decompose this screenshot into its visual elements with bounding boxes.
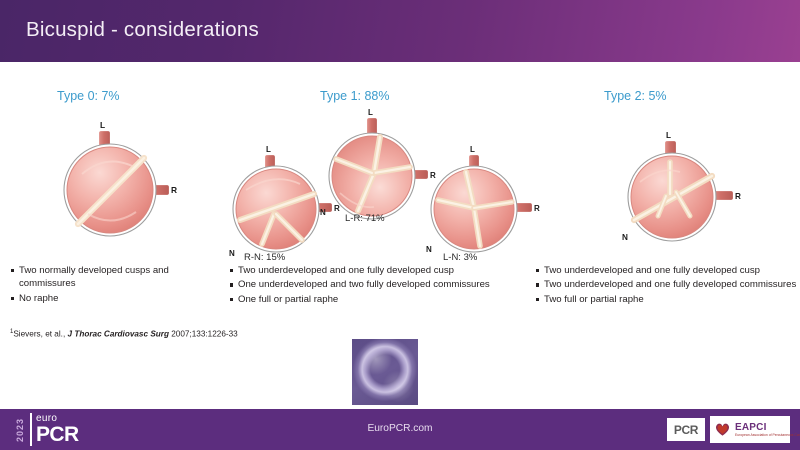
citation-details: 2007;133:1226-33 [169,330,238,339]
type-1-label: Type 1: 88% [320,89,390,103]
pcr-logo-box: PCR [667,418,705,441]
slide: Bicuspid - considerations Type 0: 7% Typ… [0,0,800,450]
citation-authors: Sievers, et al., [13,330,67,339]
list-item: Two underdeveloped and one fully develop… [229,264,525,277]
bullet-list-type-1: Two underdeveloped and one fully develop… [229,264,525,307]
valve-diagram-l-n: L R N [424,152,540,262]
list-item: Two normally developed cusps and commiss… [10,264,215,291]
svg-text:L: L [470,145,475,154]
citation-reference: 1Sievers, et al., J Thorac Cardiovasc Su… [10,329,238,339]
svg-text:R: R [735,192,741,201]
list-item: Two underdeveloped and one fully develop… [535,264,797,277]
svg-text:L: L [666,131,671,140]
svg-text:N: N [229,249,235,258]
type-0-label: Type 0: 7% [57,89,120,103]
slide-header-bar: Bicuspid - considerations [0,0,800,62]
heart-icon [714,421,731,438]
svg-text:N: N [622,233,628,242]
valve-caption-l-r: L-R: 71% [345,213,385,224]
eapci-subtitle-text: European Association of Percutaneous Car… [735,433,800,438]
svg-text:L: L [368,108,373,117]
svg-text:R: R [534,204,540,213]
list-item: One full or partial raphe [229,293,525,306]
list-item: Two full or partial raphe [535,293,797,306]
svg-text:N: N [426,245,432,254]
valve-caption-r-n: R-N: 15% [244,252,285,263]
logo-year-text: 2023 [15,413,26,446]
list-item: One underdeveloped and two fully develop… [229,278,525,291]
bullet-list-type-0: Two normally developed cusps and commiss… [10,264,215,306]
list-item: Two underdeveloped and one fully develop… [535,278,797,291]
europcr-logo: 2023 euro PCR [15,413,79,446]
svg-text:L: L [266,145,271,154]
eapci-logo-box: EAPCI European Association of Percutaneo… [710,416,790,443]
pcr-logo-text: PCR [674,423,698,437]
svg-text:N: N [320,208,326,217]
citation-journal: J Thorac Cardiovasc Surg [68,330,169,339]
valve-diagram-type-0: L R [58,128,178,246]
logo-pcr-text: PCR [36,424,79,445]
page-title: Bicuspid - considerations [26,18,259,42]
valve-diagram-l-r: L R N [318,115,434,227]
eapci-name-text: EAPCI [735,422,800,433]
bullet-list-type-2: Two underdeveloped and one fully develop… [535,264,797,307]
valve-caption-l-n: L-N: 3% [443,252,477,263]
svg-text:L: L [100,120,105,130]
logo-divider [30,413,32,446]
type-2-label: Type 2: 5% [604,89,667,103]
svg-text:R: R [171,185,177,195]
decorative-sphere-image [352,339,418,405]
list-item: No raphe [10,292,215,305]
valve-diagram-type-2: L R N [620,138,740,252]
